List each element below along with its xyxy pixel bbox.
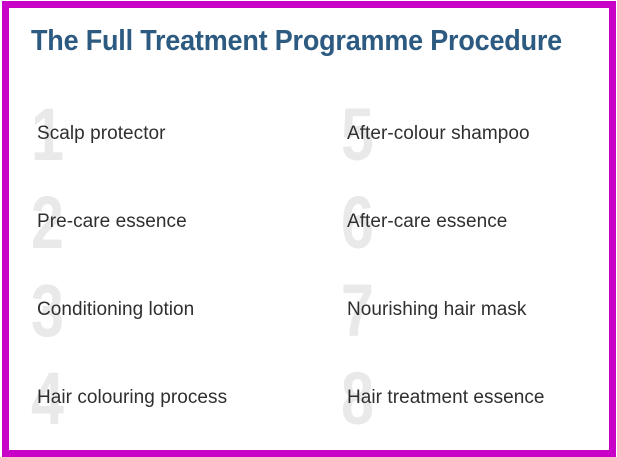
slide-canvas: The Full Treatment Programme Procedure 1…	[0, 0, 617, 457]
step-label-6: After-care essence	[347, 210, 507, 234]
step-label-3: Conditioning lotion	[37, 298, 194, 322]
step-item-3: 3 Conditioning lotion	[22, 268, 312, 356]
step-label-2: Pre-care essence	[37, 210, 187, 234]
step-label-5: After-colour shampoo	[347, 122, 530, 146]
page-title: The Full Treatment Programme Procedure	[31, 25, 562, 58]
step-item-4: 4 Hair colouring process	[22, 356, 312, 444]
step-item-6: 6 After-care essence	[332, 180, 617, 268]
step-label-7: Nourishing hair mask	[347, 298, 526, 322]
step-item-2: 2 Pre-care essence	[22, 180, 312, 268]
step-label-1: Scalp protector	[37, 122, 166, 146]
step-item-5: 5 After-colour shampoo	[332, 92, 617, 180]
step-item-1: 1 Scalp protector	[22, 92, 312, 180]
steps-grid: 1 Scalp protector 2 Pre-care essence 3 C…	[0, 92, 617, 457]
step-item-7: 7 Nourishing hair mask	[332, 268, 617, 356]
step-item-8: 8 Hair treatment essence	[332, 356, 617, 444]
step-label-8: Hair treatment essence	[347, 386, 545, 410]
step-label-4: Hair colouring process	[37, 386, 227, 410]
